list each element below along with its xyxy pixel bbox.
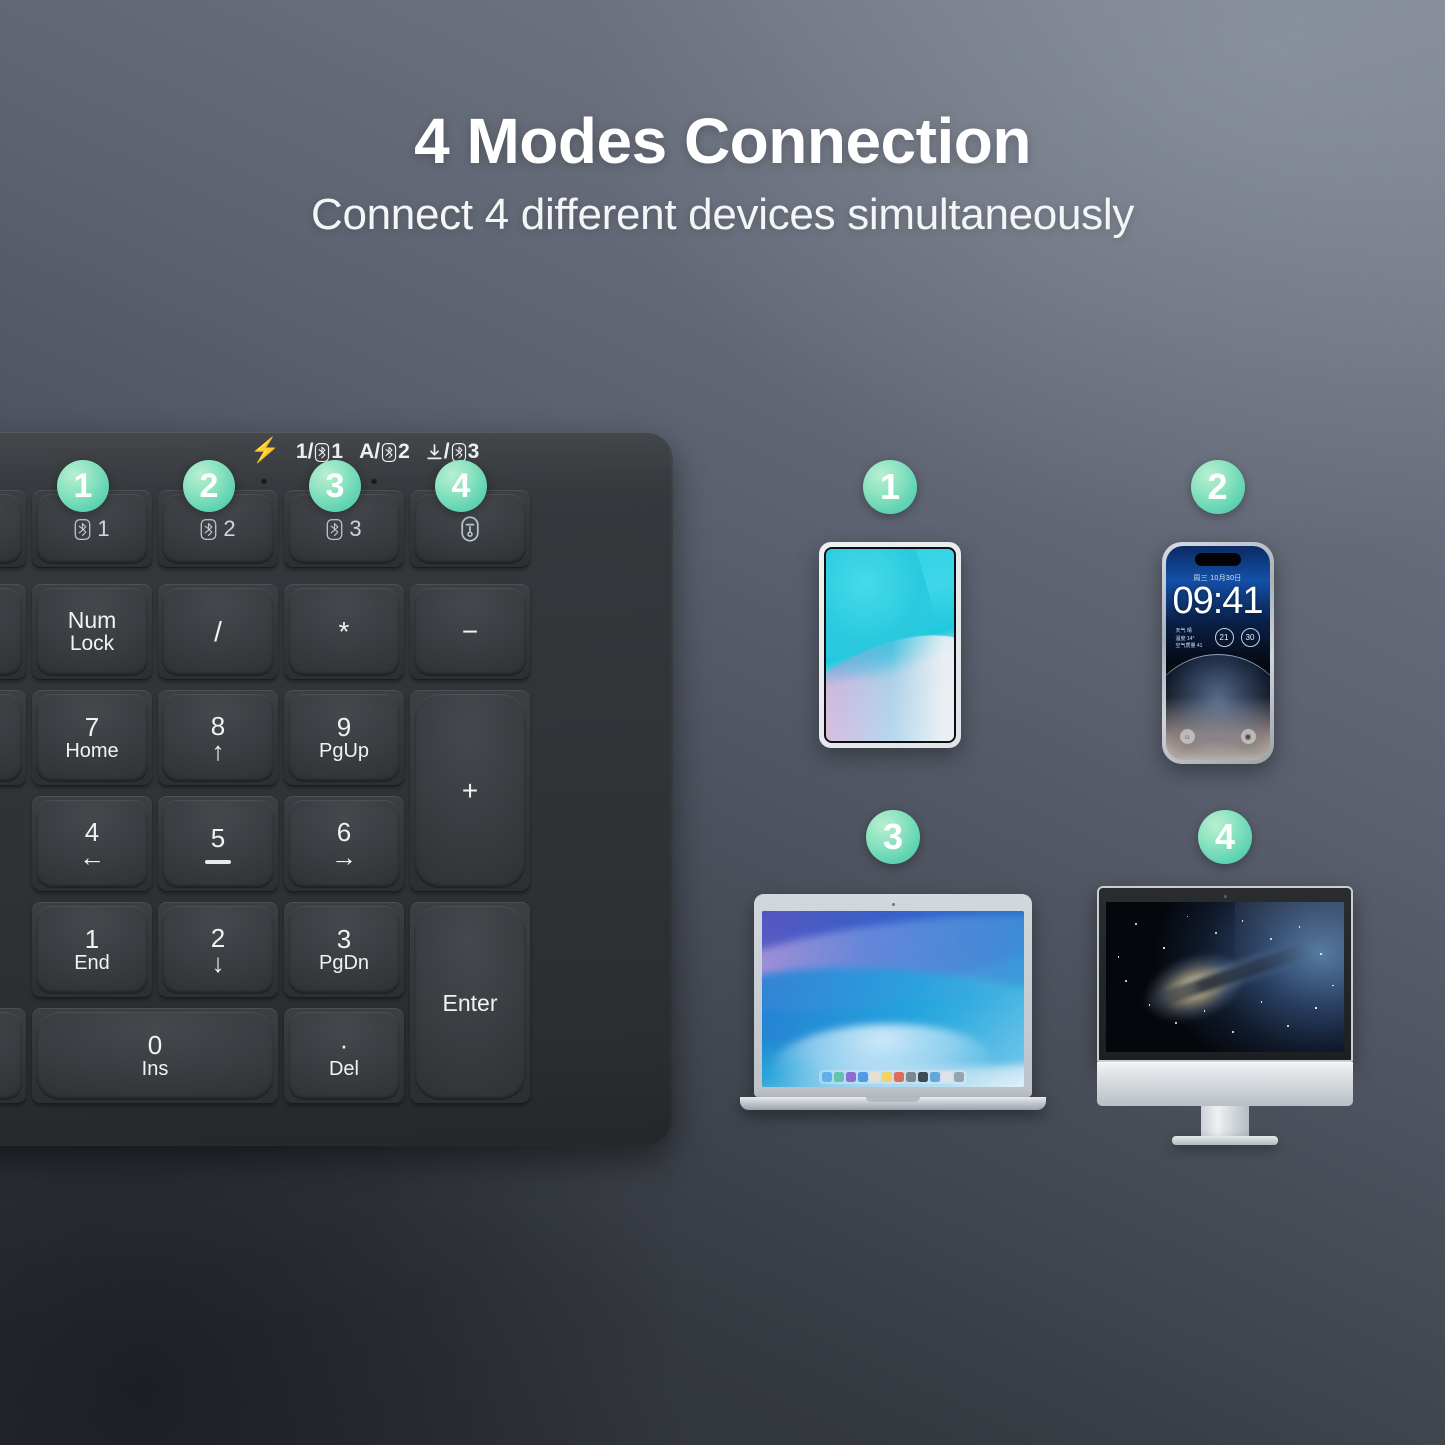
laptop-device xyxy=(740,894,1046,1110)
monitor-panel xyxy=(1097,886,1353,1062)
laptop-base xyxy=(740,1097,1046,1110)
keyboard-reflection xyxy=(0,1150,673,1380)
monitor-stand-foot xyxy=(1172,1136,1278,1145)
key-label-primary: 0 xyxy=(148,1031,162,1059)
phone-clock: 09:41 xyxy=(1166,580,1270,623)
key-label-primary: 7 xyxy=(85,713,99,741)
key-label: + xyxy=(462,776,478,806)
callout-badge-1: 1 xyxy=(57,460,109,512)
laptop-screen xyxy=(762,911,1024,1087)
dock-icon[interactable] xyxy=(822,1072,832,1082)
bluetooth-icon xyxy=(381,443,397,462)
key-label-line1: Num xyxy=(68,608,117,633)
arrow-down-icon: ↓ xyxy=(212,952,225,975)
key-divide[interactable]: / xyxy=(158,584,278,680)
key-numpad-6[interactable]: 6 → xyxy=(284,796,404,892)
macos-dock xyxy=(819,1070,967,1084)
page-subtitle: Connect 4 different devices simultaneous… xyxy=(0,190,1445,240)
dock-icon[interactable] xyxy=(882,1072,892,1082)
device-tablet: 1 xyxy=(790,460,990,780)
promo-banner: 4 Modes Connection Connect 4 different d… xyxy=(0,0,1445,1445)
lightning-bolt-icon: ⚡ xyxy=(250,439,280,463)
dynamic-island xyxy=(1195,553,1241,566)
arrow-right-icon: → xyxy=(331,846,357,869)
keyboard-body: ⚡ 1/ 1 A/ 2 xyxy=(0,432,673,1146)
arrow-up-icon: ↑ xyxy=(212,740,225,763)
circle-widgets: 21 30 xyxy=(1215,628,1260,647)
callout-badge-4: 4 xyxy=(435,460,487,512)
key-numpad-decimal[interactable]: · Del xyxy=(284,1008,404,1104)
device-badge-4: 4 xyxy=(1198,810,1252,864)
key-label-secondary: Home xyxy=(65,741,118,763)
phone-widgets: 天气 晴 温度 14° 空气质量 41 21 30 xyxy=(1176,628,1260,651)
key-label: 2 xyxy=(223,517,235,541)
key-label-primary: 1 xyxy=(85,925,99,953)
key-num-lock[interactable]: Num Lock xyxy=(32,584,152,680)
camera-icon[interactable]: ◉ xyxy=(1241,729,1256,744)
key-numpad-2[interactable]: 2 ↓ xyxy=(158,902,278,998)
key-subtract[interactable]: − xyxy=(410,584,530,680)
key-numpad-7[interactable]: 7 Home xyxy=(32,690,152,786)
device-badge-1: 1 xyxy=(863,460,917,514)
key-label: Enter xyxy=(443,991,498,1016)
device-monitor: 4 xyxy=(1090,810,1360,1100)
dock-icon[interactable] xyxy=(858,1072,868,1082)
key-page-down[interactable]: Page Down xyxy=(0,690,26,786)
webcam-icon xyxy=(1224,895,1227,898)
key-label-secondary: PgUp xyxy=(319,741,369,763)
key-label: 1 xyxy=(97,517,109,541)
circle-widget-a: 21 xyxy=(1215,628,1234,647)
monitor-stand-neck xyxy=(1201,1106,1249,1136)
key-label-secondary: Ins xyxy=(142,1059,169,1081)
download-arrow-icon xyxy=(426,443,443,461)
phone-device: 周三 10月30日 09:41 天气 晴 温度 14° 空气质量 41 21 3… xyxy=(1162,542,1274,764)
monitor-screen xyxy=(1106,902,1344,1052)
tablet-device xyxy=(819,542,961,748)
dock-icon[interactable] xyxy=(846,1072,856,1082)
circle-widget-b: 30 xyxy=(1241,628,1260,647)
key-label-line2: Lock xyxy=(70,633,114,656)
key-numpad-8[interactable]: 8 ↑ xyxy=(158,690,278,786)
bluetooth-icon xyxy=(326,519,343,540)
dock-icon[interactable] xyxy=(954,1072,964,1082)
dock-icon[interactable] xyxy=(930,1072,940,1082)
key-numpad-0[interactable]: 0 Ins xyxy=(32,1008,278,1104)
key-page-up[interactable]: Page Up xyxy=(0,584,26,680)
usb-dongle-icon xyxy=(460,516,480,542)
key-label-secondary: Del xyxy=(329,1059,359,1081)
legend-suffix-2: 2 xyxy=(398,440,410,464)
key-numpad-9[interactable]: 9 PgUp xyxy=(284,690,404,786)
weather-line-1: 天气 晴 xyxy=(1176,628,1203,636)
key-label-primary: · xyxy=(340,1031,349,1059)
device-phone: 2 周三 10月30日 09:41 天气 晴 温度 14° 空气质量 41 xyxy=(1120,460,1315,785)
device-badge-3: 3 xyxy=(866,810,920,864)
weather-widget: 天气 晴 温度 14° 空气质量 41 xyxy=(1176,628,1203,651)
device-badge-2: 2 xyxy=(1191,460,1245,514)
key-label-secondary: End xyxy=(74,953,110,975)
key-pause-break[interactable]: Pause Break xyxy=(0,490,26,568)
screen-glare xyxy=(1235,902,1344,1052)
dock-icon[interactable] xyxy=(894,1072,904,1082)
key-label: − xyxy=(462,617,478,647)
key-label: 3 xyxy=(349,517,361,541)
dock-icon[interactable] xyxy=(906,1072,916,1082)
dock-icon[interactable] xyxy=(918,1072,928,1082)
key-numpad-4[interactable]: 4 ← xyxy=(32,796,152,892)
bluetooth-icon xyxy=(200,519,217,540)
legend-prefix-3: / xyxy=(444,440,450,464)
tablet-wallpaper xyxy=(826,549,954,741)
key-arrow-right[interactable]: → xyxy=(0,1008,26,1104)
laptop-lid xyxy=(754,894,1032,1097)
weather-line-2: 温度 14° xyxy=(1176,636,1203,644)
page-title: 4 Modes Connection xyxy=(0,104,1445,178)
key-numpad-3[interactable]: 3 PgDn xyxy=(284,902,404,998)
webcam-icon xyxy=(892,903,895,906)
key-label-primary: 9 xyxy=(337,713,351,741)
legend-prefix-1: 1/ xyxy=(296,440,314,464)
led-indicator-3 xyxy=(371,478,377,484)
tablet-screen xyxy=(824,547,956,743)
led-indicator-1 xyxy=(261,478,267,484)
device-laptop: 3 xyxy=(740,810,1046,1090)
key-add[interactable]: + xyxy=(410,690,530,892)
dock-icon[interactable] xyxy=(834,1072,844,1082)
key-numpad-1[interactable]: 1 End xyxy=(32,902,152,998)
key-label: * xyxy=(339,617,350,647)
flashlight-icon[interactable]: ☼ xyxy=(1180,729,1195,744)
bluetooth-icon xyxy=(451,443,467,462)
key-numpad-5[interactable]: 5 xyxy=(158,796,278,892)
legend-item-2: A/ 2 xyxy=(359,440,410,464)
monitor-chin xyxy=(1097,1062,1353,1106)
keyboard-legend-row: ⚡ 1/ 1 A/ 2 xyxy=(250,440,479,464)
key-label-primary: 5 xyxy=(211,824,225,852)
key-label-primary: 3 xyxy=(337,925,351,953)
key-label-secondary: PgDn xyxy=(319,953,369,975)
bluetooth-icon xyxy=(74,519,91,540)
dock-icon[interactable] xyxy=(942,1072,952,1082)
bluetooth-icon xyxy=(314,443,330,462)
phone-screen: 周三 10月30日 09:41 天气 晴 温度 14° 空气质量 41 21 3… xyxy=(1166,546,1270,760)
legend-prefix-2: A/ xyxy=(359,440,380,464)
monitor-device xyxy=(1097,886,1353,1145)
weather-line-3: 空气质量 41 xyxy=(1176,643,1203,651)
arrow-left-icon: ← xyxy=(79,846,105,869)
keyboard-illustration: ⚡ 1/ 1 A/ 2 xyxy=(0,432,680,1152)
callout-badge-3: 3 xyxy=(309,460,361,512)
wallpaper-orb-bottom xyxy=(1166,696,1270,760)
key-label: / xyxy=(214,617,222,647)
key-enter[interactable]: Enter xyxy=(410,902,530,1104)
callout-badge-2: 2 xyxy=(183,460,235,512)
homing-bar xyxy=(205,860,231,864)
key-multiply[interactable]: * xyxy=(284,584,404,680)
dock-icon[interactable] xyxy=(870,1072,880,1082)
